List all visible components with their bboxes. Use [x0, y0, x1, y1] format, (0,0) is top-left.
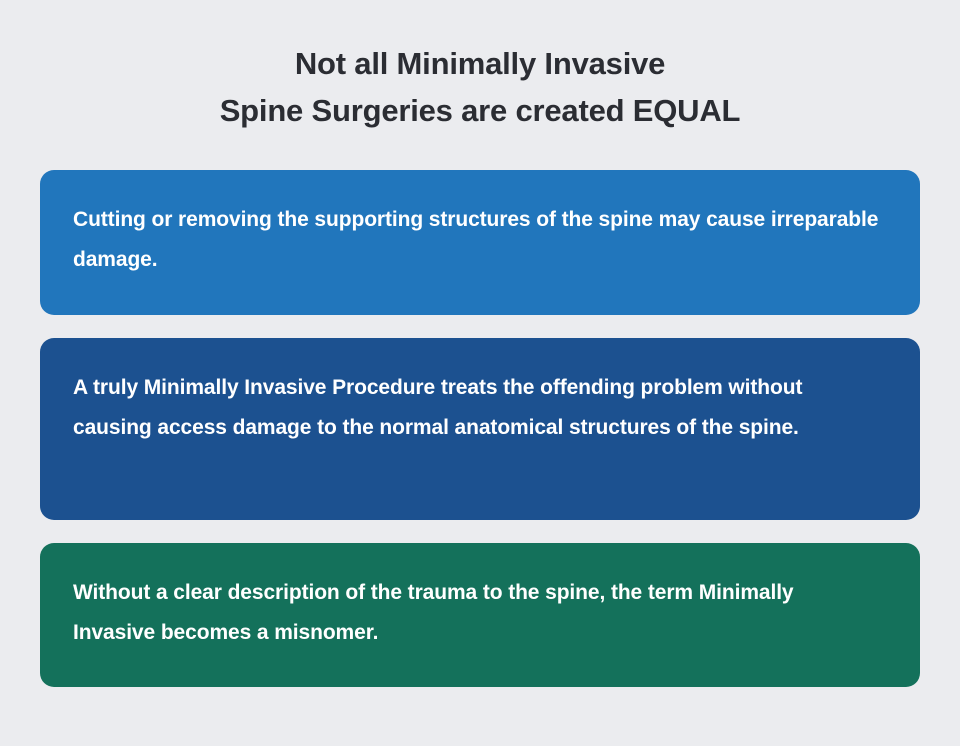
statement-card-text: A truly Minimally Invasive Procedure tre…: [73, 368, 880, 448]
statement-card-misnomer: Without a clear description of the traum…: [40, 543, 920, 687]
statement-card-list: Cutting or removing the supporting struc…: [40, 170, 920, 687]
page-title-line-2: Spine Surgeries are created EQUAL: [0, 87, 960, 134]
statement-card-truly-minimally-invasive: A truly Minimally Invasive Procedure tre…: [40, 338, 920, 520]
page-title-line-1: Not all Minimally Invasive: [0, 40, 960, 87]
statement-card-text: Cutting or removing the supporting struc…: [73, 200, 880, 280]
page-title: Not all Minimally Invasive Spine Surgeri…: [0, 40, 960, 134]
statement-card-text: Without a clear description of the traum…: [73, 573, 880, 653]
infographic-root: Not all Minimally Invasive Spine Surgeri…: [0, 0, 960, 746]
statement-card-cutting-removing: Cutting or removing the supporting struc…: [40, 170, 920, 315]
